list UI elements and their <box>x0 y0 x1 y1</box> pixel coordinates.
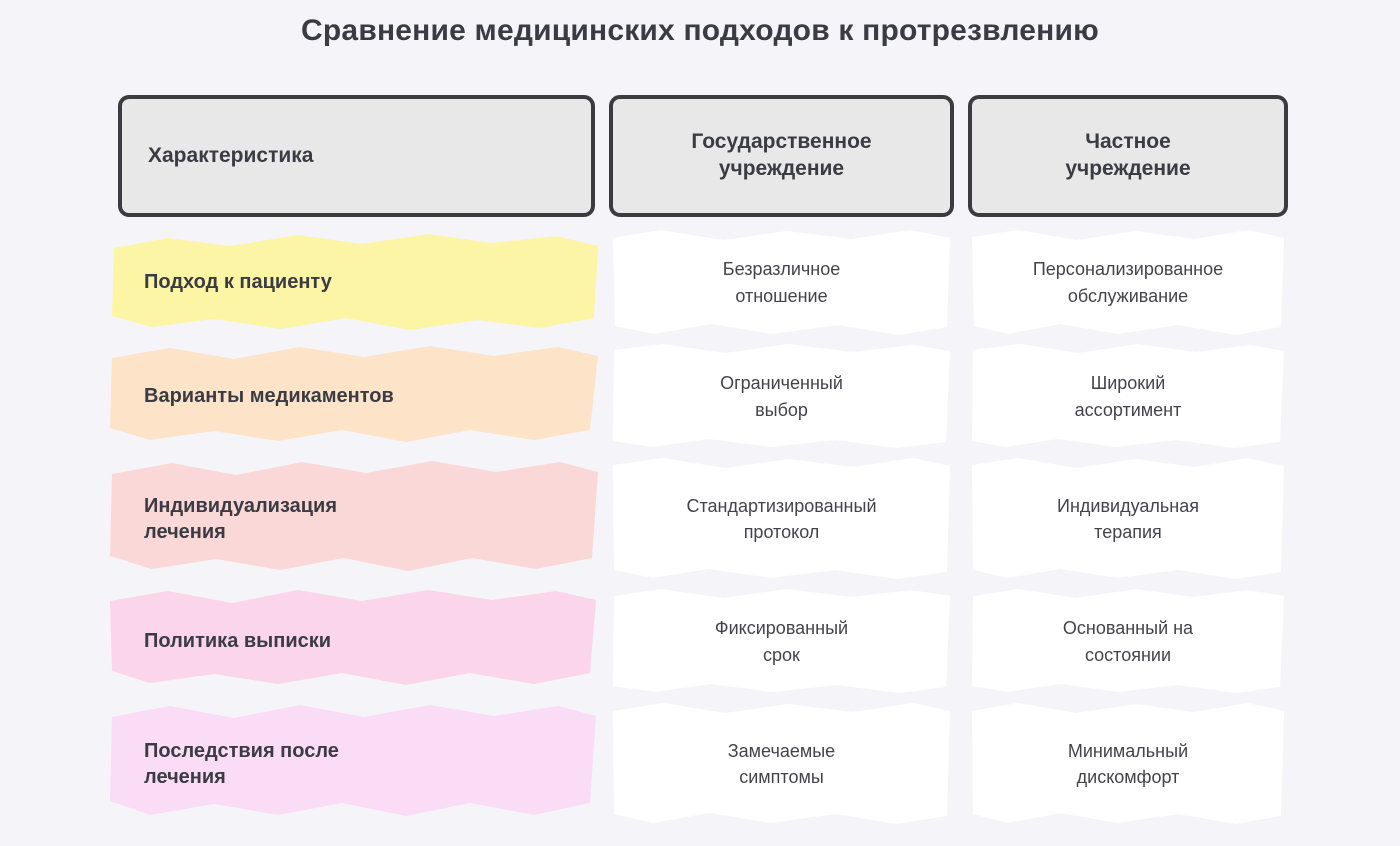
table-row: Индивидуализация лечения Стандартизирова… <box>118 454 1288 584</box>
value-cell-public: Ограниченный выбор <box>609 340 954 453</box>
column-header-private: Частное учреждение <box>968 95 1288 217</box>
feature-cell: Индивидуализация лечения <box>118 454 595 584</box>
feature-label-line2: лечения <box>144 766 226 788</box>
value-public-line1: Фиксированный <box>715 618 848 638</box>
value-public-line2: симптомы <box>739 767 824 787</box>
value-cell-public: Замечаемые симптомы <box>609 699 954 829</box>
table-row: Варианты медикаментов Ограниченный выбор <box>118 340 1288 453</box>
value-private-line2: состоянии <box>1085 645 1171 665</box>
value-private-line2: обслуживание <box>1068 286 1188 306</box>
table-row: Последствия после лечения Замечаемые сим… <box>118 699 1288 829</box>
value-public-line1: Стандартизированный <box>687 496 877 516</box>
value-private-line1: Основанный на <box>1063 618 1193 638</box>
column-header-feature: Характеристика <box>118 95 595 217</box>
value-public-line2: отношение <box>735 286 827 306</box>
column-header-private-line2: учреждение <box>1065 157 1190 180</box>
column-header-private-line1: Частное <box>1085 130 1171 153</box>
feature-cell: Последствия после лечения <box>118 699 595 829</box>
value-cell-private: Минимальный дискомфорт <box>968 699 1288 829</box>
table-header-row: Характеристика Государственное учреждени… <box>118 95 1288 217</box>
value-cell-private: Индивидуальная терапия <box>968 454 1288 584</box>
feature-cell: Подход к пациенту <box>118 226 595 339</box>
column-header-public-line2: учреждение <box>719 157 844 180</box>
feature-label-line1: Последствия после <box>144 740 339 762</box>
page-title: Сравнение медицинских подходов к протрез… <box>0 14 1400 48</box>
feature-cell: Варианты медикаментов <box>118 340 595 453</box>
feature-label-line1: Варианты медикаментов <box>144 385 394 407</box>
feature-label-line1: Индивидуализация <box>144 495 337 517</box>
feature-label-line1: Подход к пациенту <box>144 271 332 293</box>
column-header-feature-label: Характеристика <box>148 143 313 170</box>
value-private-line2: дискомфорт <box>1077 767 1180 787</box>
table-row: Подход к пациенту Безразличное отношение <box>118 226 1288 339</box>
value-public-line1: Безразличное <box>723 259 840 279</box>
feature-cell: Политика выписки <box>118 585 595 698</box>
value-cell-public: Стандартизированный протокол <box>609 454 954 584</box>
column-header-public: Государственное учреждение <box>609 95 954 217</box>
column-header-public-line1: Государственное <box>691 130 871 153</box>
value-private-line2: терапия <box>1094 522 1162 542</box>
value-public-line2: протокол <box>744 522 820 542</box>
value-cell-private: Широкий ассортимент <box>968 340 1288 453</box>
value-private-line2: ассортимент <box>1075 400 1182 420</box>
feature-label-line2: лечения <box>144 521 226 543</box>
value-private-line1: Индивидуальная <box>1057 496 1199 516</box>
value-cell-public: Безразличное отношение <box>609 226 954 339</box>
value-cell-private: Основанный на состоянии <box>968 585 1288 698</box>
table-row: Политика выписки Фиксированный срок <box>118 585 1288 698</box>
value-private-line1: Минимальный <box>1068 741 1188 761</box>
table-body: Подход к пациенту Безразличное отношение <box>118 226 1288 829</box>
value-cell-public: Фиксированный срок <box>609 585 954 698</box>
value-cell-private: Персонализированное обслуживание <box>968 226 1288 339</box>
value-private-line1: Широкий <box>1091 373 1166 393</box>
value-public-line2: срок <box>763 645 800 665</box>
comparison-table: Характеристика Государственное учреждени… <box>118 95 1288 830</box>
value-public-line2: выбор <box>755 400 808 420</box>
value-public-line1: Замечаемые <box>728 741 835 761</box>
value-public-line1: Ограниченный <box>720 373 843 393</box>
value-private-line1: Персонализированное <box>1033 259 1223 279</box>
feature-label-line1: Политика выписки <box>144 630 331 652</box>
